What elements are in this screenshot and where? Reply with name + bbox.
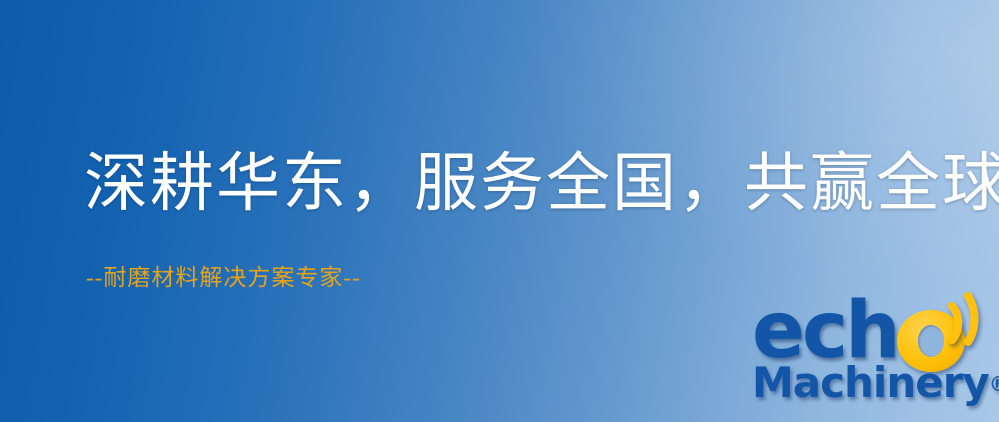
echo-wave-icon <box>946 290 999 352</box>
logo-company-name: Machinery® <box>752 362 999 404</box>
logo-machinery-text: Machinery <box>752 358 989 407</box>
registered-trademark-icon: ® <box>989 372 999 396</box>
banner-headline: 深耕华东，服务全国，共赢全球 <box>84 152 999 216</box>
banner-subtitle: --耐磨材料解决方案专家-- <box>86 266 361 289</box>
echo-machinery-logo: ech Machinery® <box>750 296 999 422</box>
promotional-banner: 深耕华东，服务全国，共赢全球 --耐磨材料解决方案专家-- ech <box>0 0 999 422</box>
